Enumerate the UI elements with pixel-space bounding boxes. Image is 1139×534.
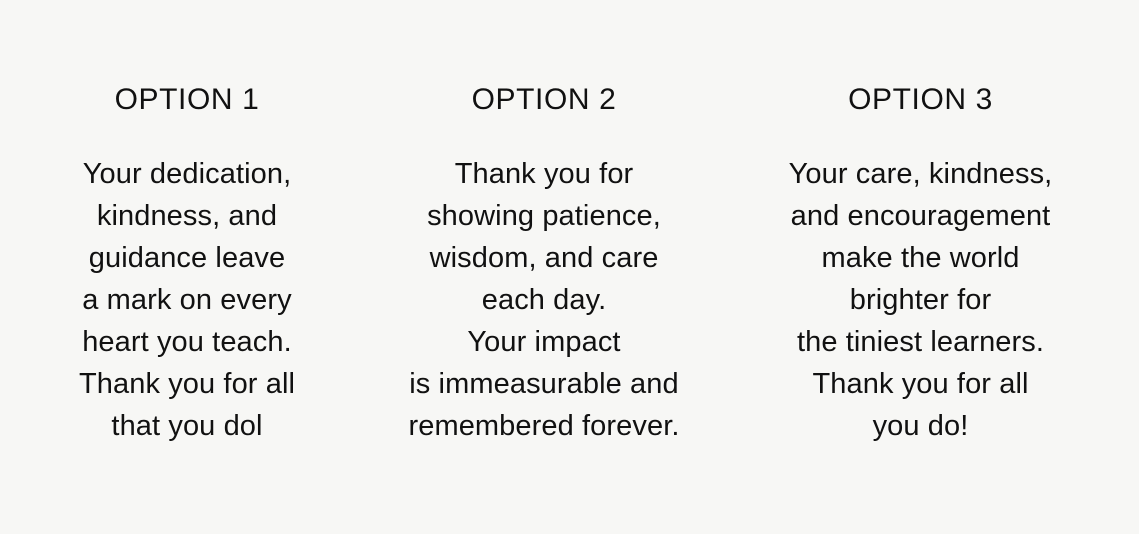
- option-1-heading: OPTION 1: [8, 85, 366, 115]
- option-1-body: Your dedication, kindness, and guidance …: [8, 153, 366, 447]
- option-column-1: OPTION 1 Your dedication, kindness, and …: [0, 0, 374, 447]
- option-column-3: OPTION 3 Your care, kindness, and encour…: [714, 0, 1139, 447]
- option-2-body: Thank you for showing patience, wisdom, …: [378, 153, 710, 447]
- option-2-heading: OPTION 2: [378, 85, 710, 115]
- options-board: OPTION 1 Your dedication, kindness, and …: [0, 0, 1139, 534]
- option-column-2: OPTION 2 Thank you for showing patience,…: [374, 0, 714, 447]
- option-3-heading: OPTION 3: [724, 85, 1117, 115]
- option-3-body: Your care, kindness, and encouragement m…: [724, 153, 1117, 447]
- options-columns: OPTION 1 Your dedication, kindness, and …: [0, 0, 1139, 534]
